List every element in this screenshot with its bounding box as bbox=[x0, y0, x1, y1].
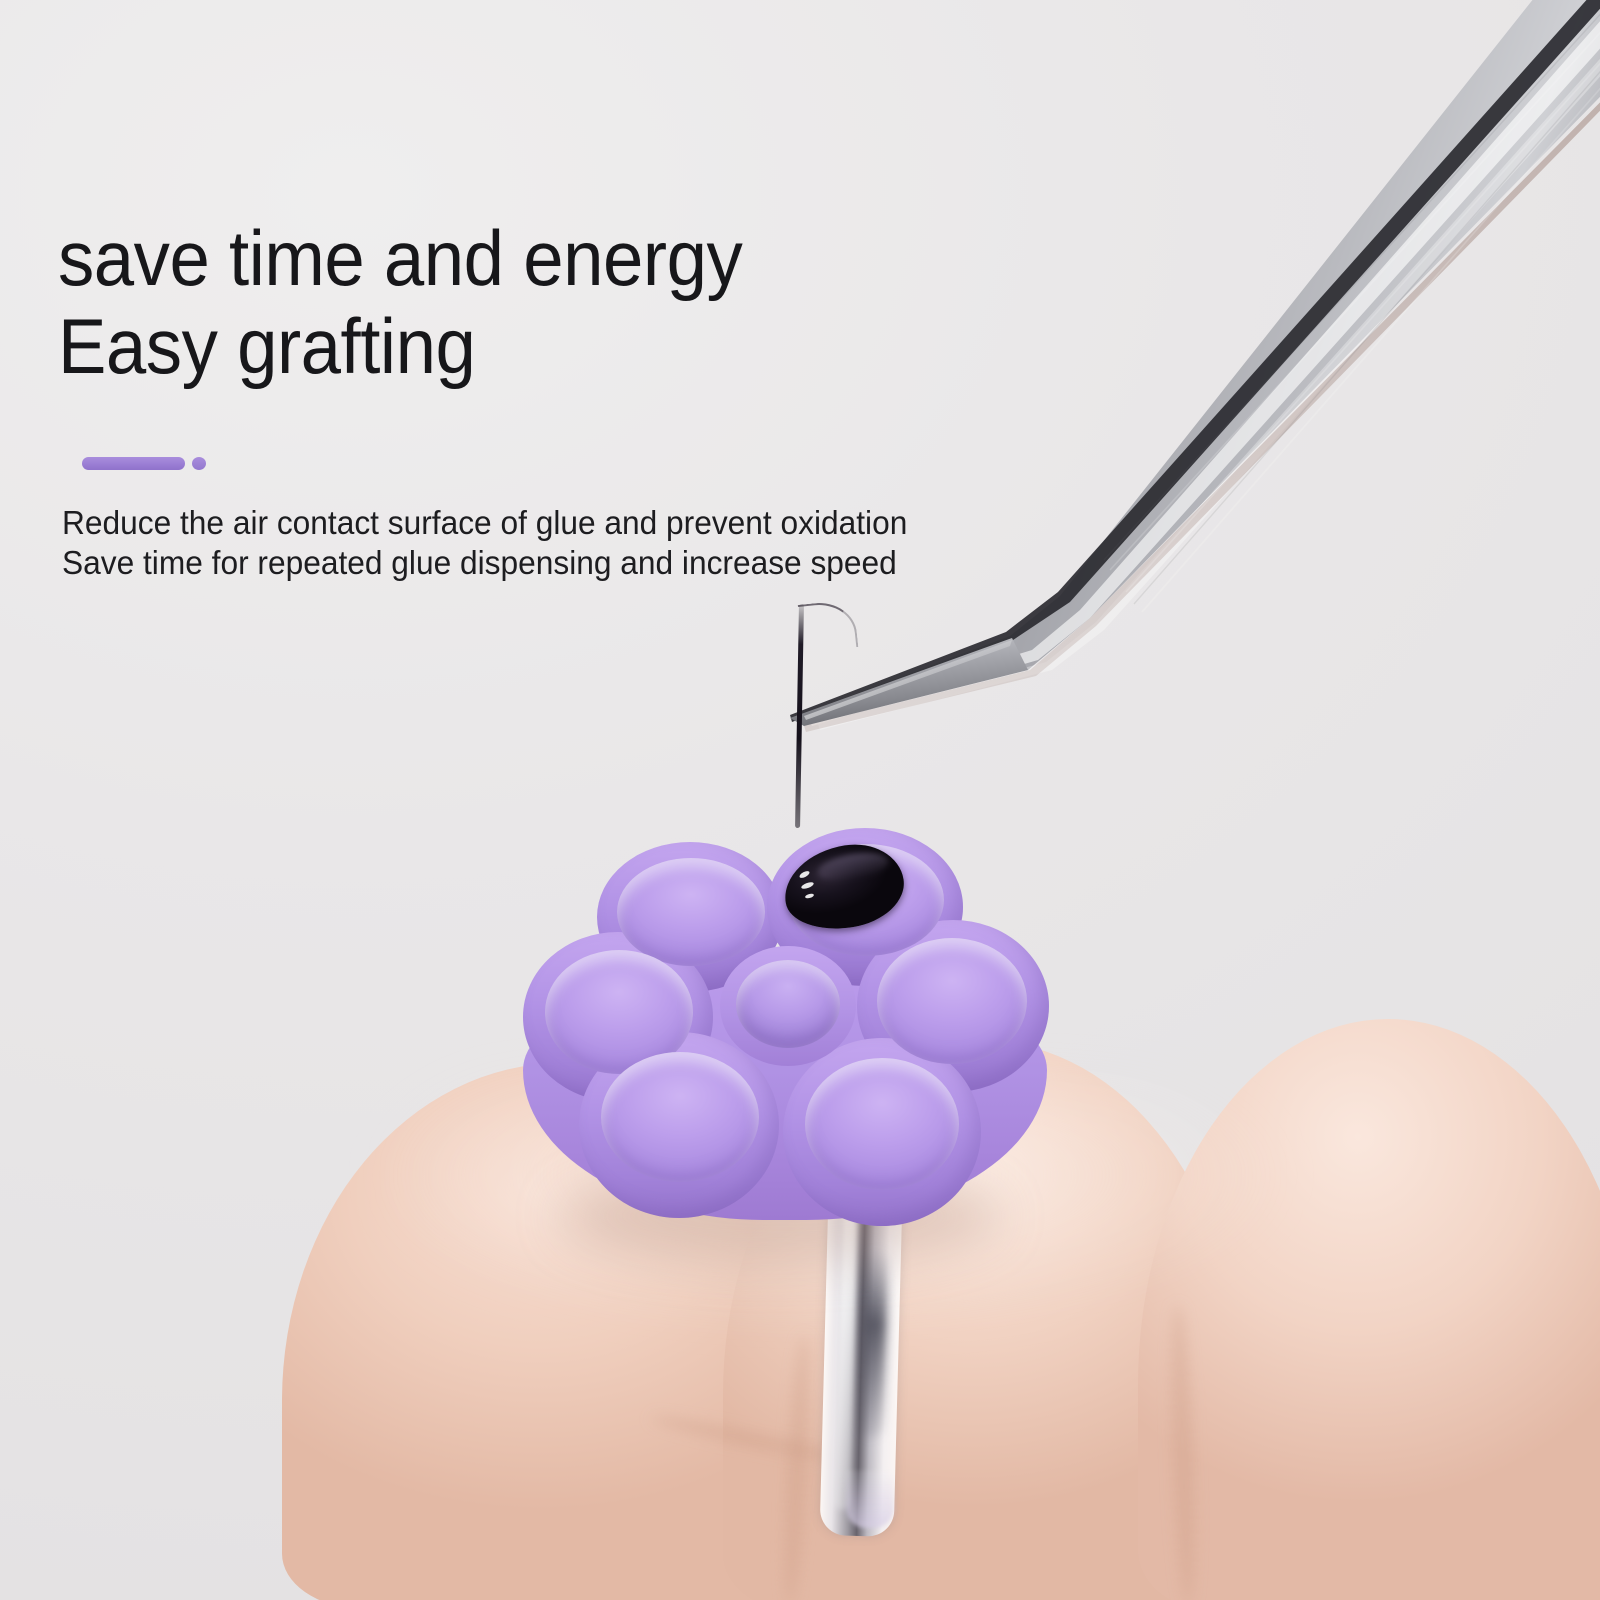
ring-bottom-glint bbox=[846, 1470, 894, 1528]
flower-glue-palette bbox=[505, 820, 1065, 1250]
petal-well-top-left bbox=[617, 858, 765, 966]
petal-well-bottom-right bbox=[805, 1058, 959, 1190]
subcopy-line-2: Save time for repeated glue dispensing a… bbox=[62, 543, 1099, 583]
headline: save time and energy Easy grafting bbox=[58, 214, 988, 390]
center-well bbox=[736, 960, 840, 1048]
headline-line-2: Easy grafting bbox=[58, 302, 988, 390]
purple-accent-divider bbox=[82, 457, 206, 470]
subcopy-line-1: Reduce the air contact surface of glue a… bbox=[62, 503, 1099, 543]
product-marketing-image: save time and energy Easy grafting Reduc… bbox=[0, 0, 1600, 1600]
petal-well-right bbox=[877, 938, 1027, 1064]
divider-bar bbox=[82, 457, 185, 470]
petal-well-bottom-left bbox=[601, 1052, 759, 1182]
headline-line-1: save time and energy bbox=[58, 214, 988, 302]
subcopy: Reduce the air contact surface of glue a… bbox=[62, 503, 1099, 583]
divider-dot bbox=[192, 457, 206, 470]
